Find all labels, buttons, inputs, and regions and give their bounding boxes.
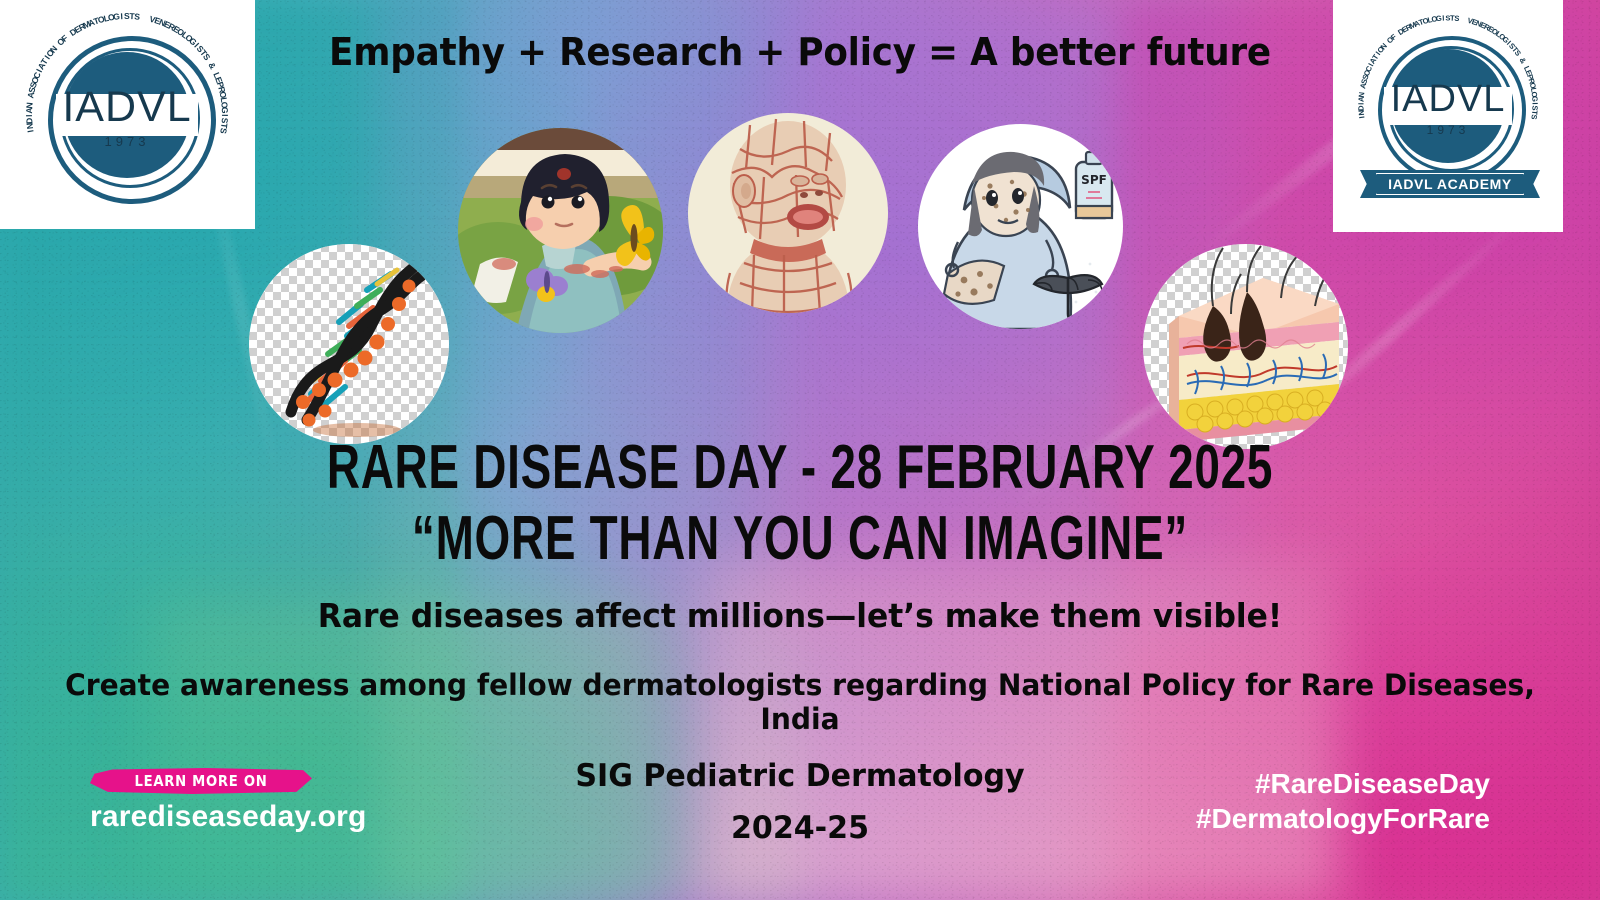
iadvl-seal-name: IADVL bbox=[22, 86, 232, 129]
poster-body-line-2: Create awareness among fellow dermatolog… bbox=[24, 668, 1576, 736]
rare-disease-day-poster: INDIAN ASSOCIATION OF DERMATOLOGISTS VEN… bbox=[0, 0, 1600, 900]
website-link[interactable]: rarediseaseday.org bbox=[90, 800, 360, 834]
iadvl-seal-year: 1973 bbox=[22, 134, 232, 149]
poster-tagline: Empathy + Research + Policy = A better f… bbox=[48, 30, 1552, 74]
skin-cross-section-diagram-image bbox=[1143, 244, 1348, 449]
iadvl-academy-ribbon-label: IADVL ACADEMY bbox=[1375, 173, 1525, 195]
dna-double-helix-image bbox=[249, 244, 449, 444]
harlequin-ichthyosis-illustration-image bbox=[688, 113, 888, 313]
iadvl-academy-seal-year: 1973 bbox=[1355, 123, 1541, 137]
iadvl-academy-ribbon: IADVL ACADEMY bbox=[1375, 170, 1525, 198]
hashtag-dermatology-for-rare: #DermatologyForRare bbox=[990, 803, 1490, 835]
learn-more-label: LEARN MORE ON bbox=[103, 768, 298, 794]
iadvl-academy-seal-name: IADVL bbox=[1355, 80, 1541, 118]
poster-headline-theme: “MORE THAN YOU CAN IMAGINE” bbox=[208, 503, 1392, 574]
poster-body-line-1: Rare diseases affect millions—let’s make… bbox=[40, 596, 1560, 635]
photoprotection-illustration-image: SPF bbox=[918, 124, 1123, 329]
butterfly-child-illustration-image bbox=[458, 128, 663, 333]
poster-headline-date: RARE DISEASE DAY - 28 FEBRUARY 2025 bbox=[208, 432, 1392, 503]
svg-text:SPF: SPF bbox=[1081, 173, 1107, 187]
learn-more-badge: LEARN MORE ON bbox=[90, 768, 312, 794]
background-brush-stroke bbox=[150, 600, 670, 900]
hashtag-rare-disease-day: #RareDiseaseDay bbox=[990, 768, 1490, 800]
